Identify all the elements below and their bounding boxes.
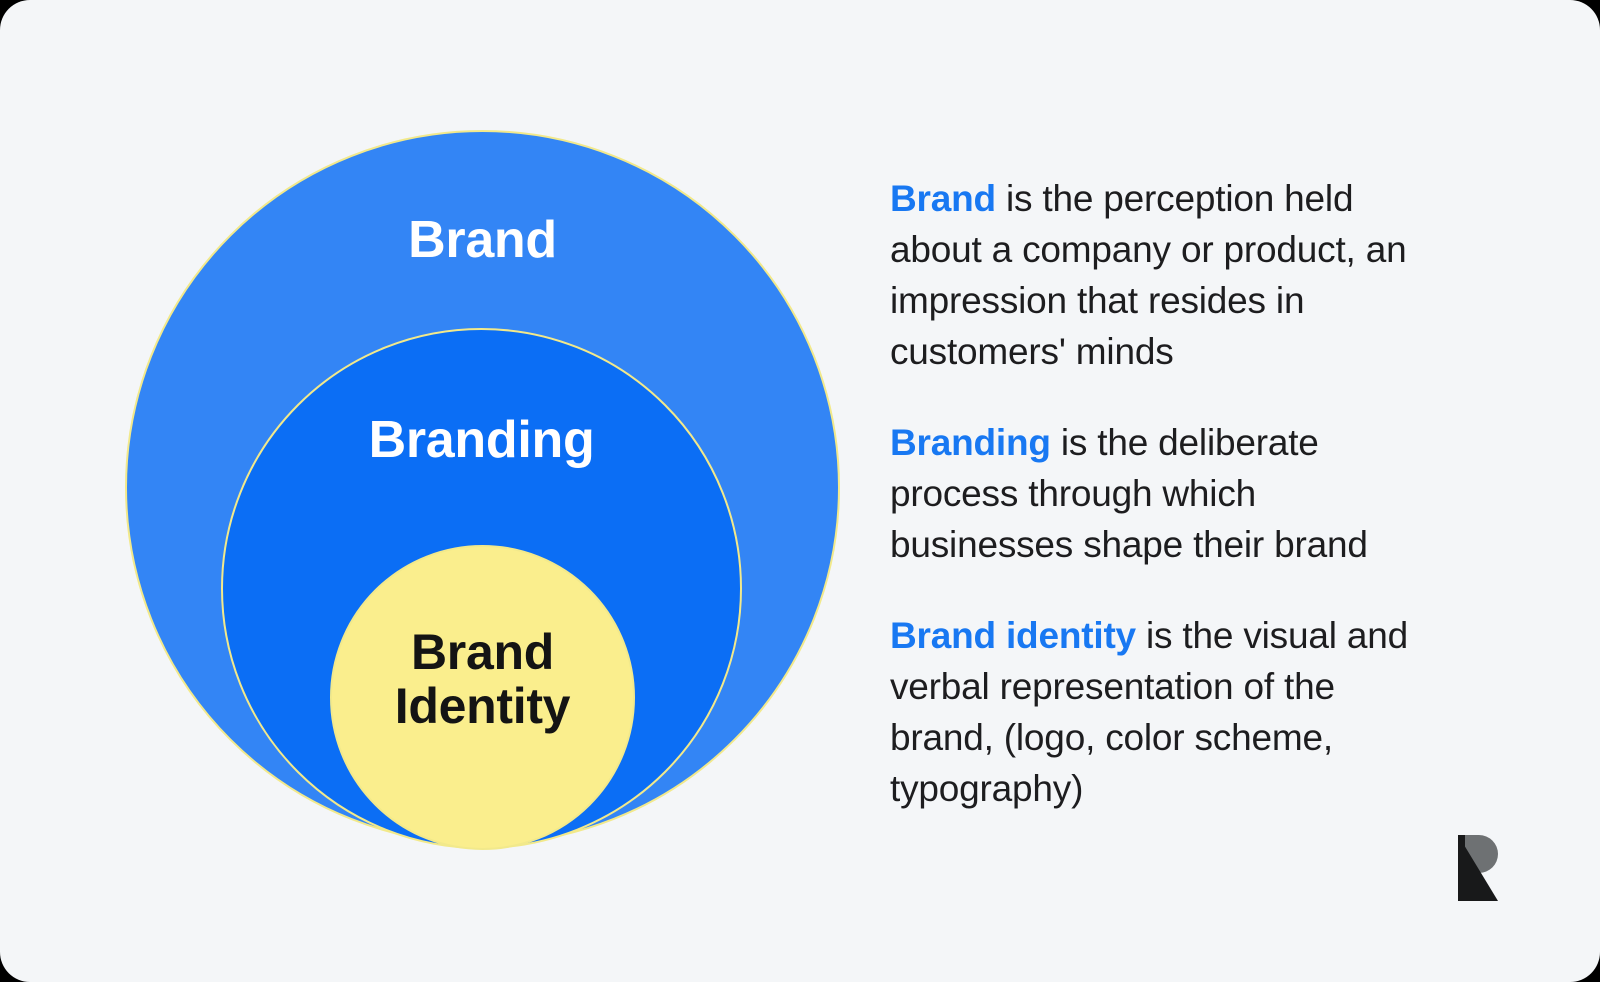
definition-brand-identity-term: Brand identity [890, 615, 1136, 656]
circle-brand-identity-label: Brand Identity [395, 625, 570, 848]
definition-branding: Branding is the deliberate process throu… [890, 417, 1430, 570]
definitions-list: Brand is the perception held about a com… [890, 136, 1430, 815]
definition-brand-term: Brand [890, 178, 996, 219]
r-monogram-logo [1448, 833, 1504, 903]
circle-brand-identity: Brand Identity [330, 545, 635, 850]
definition-branding-term: Branding [890, 422, 1051, 463]
infographic-card: Brand Branding Brand Identity Brand is t… [0, 0, 1600, 982]
nested-circles-diagram: Brand Branding Brand Identity [100, 100, 880, 880]
definition-brand-identity: Brand identity is the visual and verbal … [890, 610, 1430, 814]
definition-brand: Brand is the perception held about a com… [890, 173, 1430, 377]
